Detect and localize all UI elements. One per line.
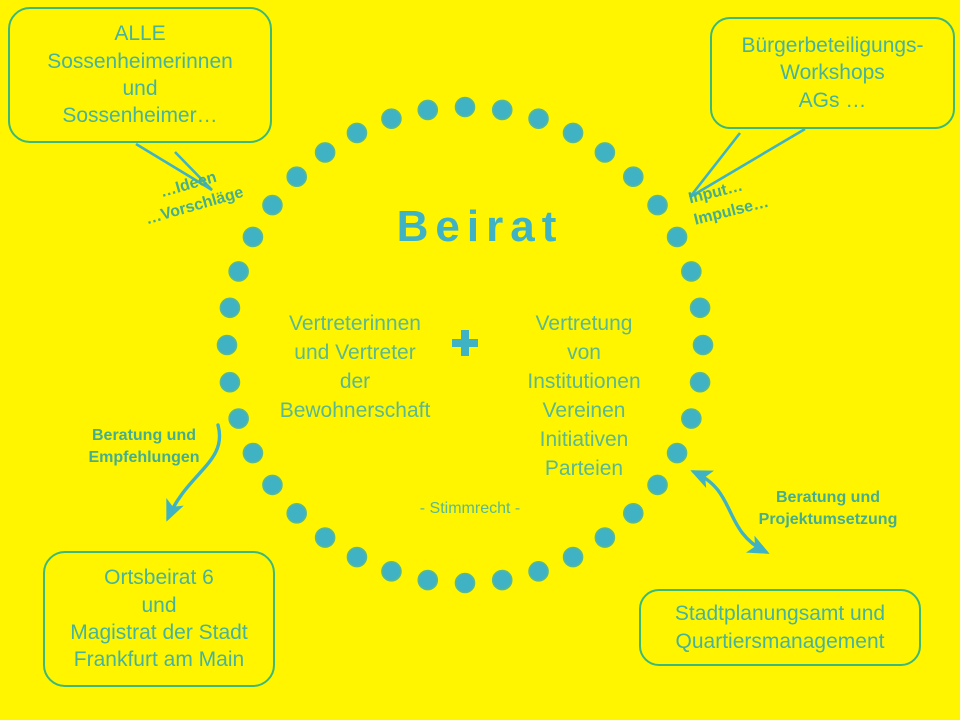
box-stadtplanung[interactable]: Stadtplanungsamt und Quartiersmanagement	[639, 589, 921, 666]
center-column-left: Vertreterinnen und Vertreter der Bewohne…	[265, 310, 445, 426]
ring-dot	[691, 373, 710, 392]
ring-dot	[418, 571, 437, 590]
center-column-right: Vertretung von Institutionen Vereinen In…	[496, 310, 672, 484]
diagram-canvas: ALLE Sossenheimerinnen und Sossenheimer……	[0, 0, 960, 720]
ring-dot	[624, 504, 643, 523]
ring-dot	[287, 167, 306, 186]
ring-dot	[493, 571, 512, 590]
ring-dot	[682, 409, 701, 428]
ring-dot	[243, 444, 262, 463]
callout-workshops[interactable]: Bürgerbeteiligungs- Workshops AGs …	[710, 17, 955, 129]
ring-dot	[694, 336, 713, 355]
ring-dot	[220, 373, 239, 392]
ring-dot	[624, 167, 643, 186]
ring-dot	[287, 504, 306, 523]
ring-dot	[456, 98, 475, 117]
ring-dot	[595, 143, 614, 162]
callout-citizens-text: ALLE Sossenheimerinnen und Sossenheimer…	[47, 20, 233, 129]
ring-dot	[529, 109, 548, 128]
ring-dot	[456, 574, 475, 593]
ring-dot	[347, 548, 366, 567]
ring-dot	[382, 109, 401, 128]
ring-dot	[316, 143, 335, 162]
ring-dot	[220, 298, 239, 317]
annotation-beratung-empfehlungen: Beratung und Empfehlungen	[78, 425, 210, 468]
ring-dot	[564, 123, 583, 142]
ring-dot	[595, 528, 614, 547]
ring-dot	[418, 100, 437, 119]
ring-dot	[691, 298, 710, 317]
ring-dot	[218, 336, 237, 355]
box-ortsbeirat[interactable]: Ortsbeirat 6 und Magistrat der Stadt Fra…	[43, 551, 275, 687]
box-stadtplanung-text: Stadtplanungsamt und Quartiersmanagement	[675, 600, 885, 655]
ring-dot	[682, 262, 701, 281]
ring-dot	[229, 262, 248, 281]
annotation-beratung-projektumsetzung: Beratung und Projektumsetzung	[748, 487, 908, 530]
label-stimmrecht: - Stimmrecht -	[355, 500, 585, 518]
ring-dot	[316, 528, 335, 547]
ring-dot	[529, 562, 548, 581]
ring-dot	[382, 562, 401, 581]
ring-dot	[229, 409, 248, 428]
ring-dot	[564, 548, 583, 567]
ring-dot	[347, 123, 366, 142]
box-ortsbeirat-text: Ortsbeirat 6 und Magistrat der Stadt Fra…	[70, 564, 247, 673]
ring-dot	[263, 475, 282, 494]
ring-dot	[493, 100, 512, 119]
plus-icon	[452, 330, 478, 356]
callout-workshops-text: Bürgerbeteiligungs- Workshops AGs …	[741, 32, 923, 114]
callout-citizens[interactable]: ALLE Sossenheimerinnen und Sossenheimer…	[8, 7, 272, 143]
